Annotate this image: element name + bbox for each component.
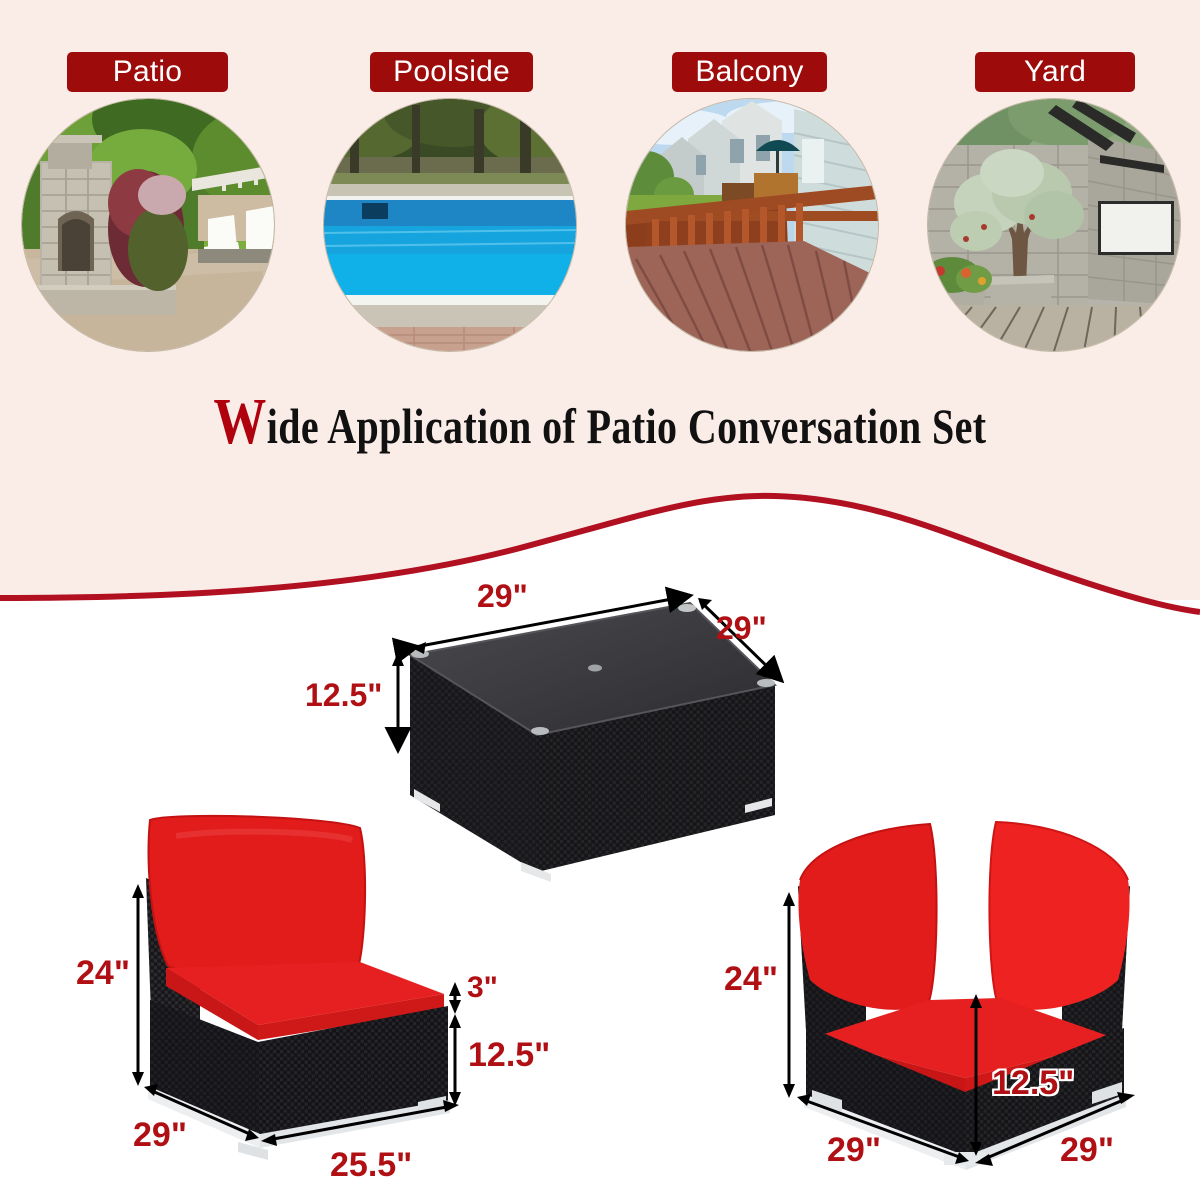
dimension-corner-seat-height: 12.5" [992, 1066, 1074, 1100]
dimension-corner-side-left: 29" [827, 1133, 881, 1167]
dimension-corner-total-height: 24" [724, 962, 778, 996]
dimension-corner-side-right: 29" [1060, 1133, 1114, 1167]
product-corner-sofa: 24" 12.5" 29" 29" [0, 0, 1200, 1200]
corner-sofa-illustration [0, 0, 1200, 1200]
infographic-page: Patio Poolside Balcony Yard [0, 0, 1200, 1200]
